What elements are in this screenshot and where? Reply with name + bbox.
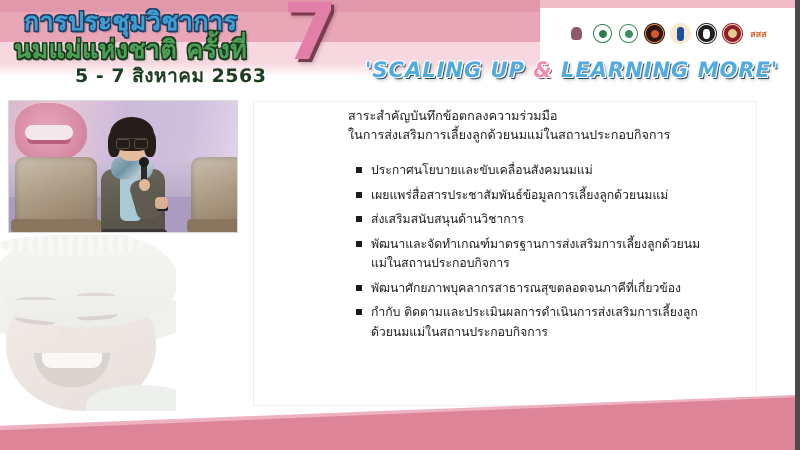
bullet-square-icon [356, 192, 362, 198]
bullet-square-icon [356, 241, 362, 247]
stage-chair-left [15, 157, 97, 229]
slide-content-area: สาระสำคัญบันทึกข้อตกลงความร่วมมือ ในการส… [272, 106, 752, 406]
logo-dark-red-crest [722, 23, 743, 44]
slogan-part-1: 'SCALING UP [365, 58, 533, 82]
list-item: พัฒนาและจัดทำเกณฑ์มาตรฐานการส่งเสริมการเ… [356, 235, 701, 274]
child-teeth [42, 353, 102, 368]
speaker-hand-holding-mic [139, 179, 150, 191]
slogan-ampersand: & [533, 58, 552, 82]
speaker-lap [101, 229, 167, 233]
child-eyebrow-left [16, 297, 56, 305]
list-item-text: กำกับ ติดตามและประเมินผลการดำเนินการส่งเ… [371, 305, 698, 339]
edition-number-seven: 7 [283, 0, 337, 72]
child-eyebrow-right [76, 293, 116, 301]
backdrop-mouth-graphic [15, 103, 87, 161]
speaker-video-inset [8, 100, 238, 233]
logo-thai-royal-emblem [566, 23, 587, 44]
presentation-slide: การประชุมวิชาการ นมแม่แห่งชาติ ครั้งที่ … [0, 0, 800, 450]
bullet-square-icon [356, 167, 362, 173]
slogan-part-2: LEARNING MORE' [553, 58, 779, 82]
speaker-eyeglasses [116, 138, 148, 147]
header-white-area-tint [540, 0, 795, 8]
speaker-hand-holding-clicker [155, 197, 168, 209]
content-heading-line-1: สาระสำคัญบันทึกข้อตกลงความร่วมมือ [348, 106, 752, 125]
conference-date: 5 - 7 สิงหาคม 2563 [75, 61, 266, 91]
child-nose [58, 327, 80, 345]
conference-slogan: 'SCALING UP & LEARNING MORE' [365, 58, 778, 82]
logo-garuda-crest [670, 23, 691, 44]
list-item-text: พัฒนาและจัดทำเกณฑ์มาตรฐานการส่งเสริมการเ… [371, 237, 700, 271]
stage-chair-right [191, 157, 238, 229]
logo-black-seal [696, 23, 717, 44]
logo-red-wheel [644, 23, 665, 44]
bullet-square-icon [356, 285, 362, 291]
logo-thaihealth-sss: สสส [748, 23, 769, 44]
list-item: ส่งเสริมสนับสนุนด้านวิชาการ [356, 210, 701, 230]
slide-header-banner: การประชุมวิชาการ นมแม่แห่งชาติ ครั้งที่ … [0, 0, 795, 96]
list-item-text: ส่งเสริมสนับสนุนด้านวิชาการ [371, 212, 524, 226]
list-item: ประกาศนโยบายและขับเคลื่อนสังคมนมแม่ [356, 161, 701, 181]
left-media-column [0, 96, 243, 411]
speaker-figure [97, 119, 169, 233]
child-photo-background [0, 235, 176, 411]
sponsor-logo-strip: สสส [566, 23, 769, 44]
column-divider [253, 101, 254, 406]
list-item: พัฒนาศักยภาพบุคลากรสาธารณสุขตลอดจนภาคีที… [356, 279, 701, 299]
sun-hat-band [0, 235, 148, 255]
bullet-square-icon [356, 309, 362, 315]
logo-green-circle-2 [618, 23, 639, 44]
list-item-text: เผยแพร่สื่อสารประชาสัมพันธ์ข้อมูลการเลี้… [371, 188, 668, 202]
list-item-text: พัฒนาศักยภาพบุคลากรสาธารณสุขตลอดจนภาคีที… [371, 281, 681, 295]
commitment-bullet-list: ประกาศนโยบายและขับเคลื่อนสังคมนมแม่ เผยแ… [356, 161, 752, 342]
list-item: กำกับ ติดตามและประเมินผลการดำเนินการส่งเ… [356, 303, 701, 342]
content-heading-line-2: ในการส่งเสริมการเลี้ยงลูกด้วยนมแม่ในสถาน… [348, 125, 752, 144]
footer-pink-wedge [0, 395, 795, 450]
list-item-text: ประกาศนโยบายและขับเคลื่อนสังคมนมแม่ [371, 163, 593, 177]
logo-green-circle-1 [592, 23, 613, 44]
logo-thaihealth-label: สสส [750, 27, 766, 41]
bullet-square-icon [356, 216, 362, 222]
list-item: เผยแพร่สื่อสารประชาสัมพันธ์ข้อมูลการเลี้… [356, 186, 701, 206]
